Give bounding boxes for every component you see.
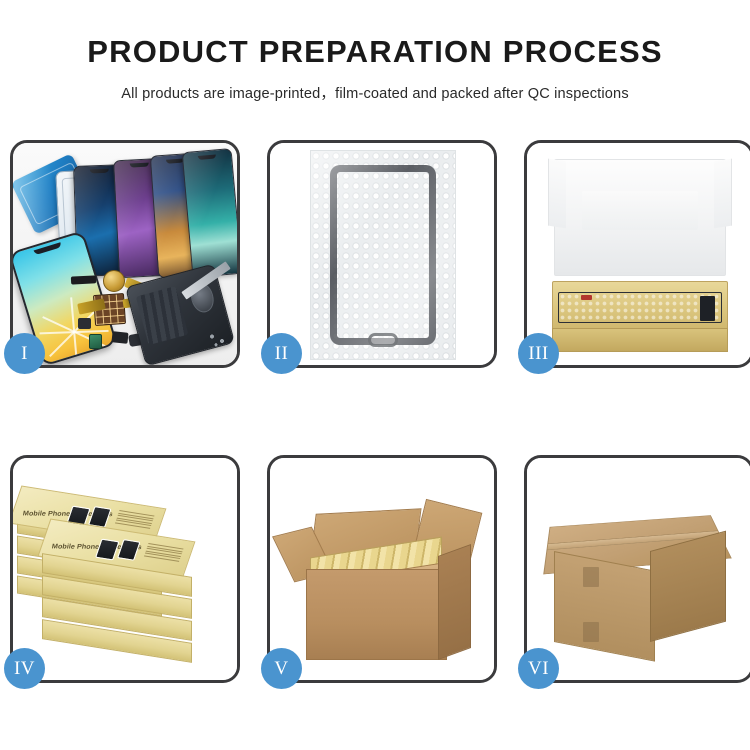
step-3-image [527, 143, 750, 365]
step-badge-6: VI [518, 648, 559, 689]
step-2-image [270, 143, 494, 365]
step-panel-6: VI [524, 455, 750, 683]
step-badge-5: V [261, 648, 302, 689]
film-gloss [311, 151, 454, 360]
carton-handle-notch-bottom [583, 622, 599, 642]
page-subtitle: All products are image-printed，film-coat… [0, 69, 750, 103]
screen-red-mark [581, 295, 592, 299]
spare-part-green-chip [89, 334, 102, 349]
spare-part-screws [208, 332, 228, 348]
box-stack: Mobile Phone Spare Parts Mobile Phone Sp… [13, 458, 237, 680]
step-panel-3: III [524, 140, 750, 368]
sealed-carton-front [554, 551, 655, 661]
step-badge-1: I [4, 333, 45, 374]
step-5-image [270, 458, 494, 680]
step-panel-2: II [267, 140, 497, 368]
phone-teal [182, 148, 237, 278]
step-6-image [527, 458, 750, 680]
carton-handle-notch-top [583, 567, 599, 587]
product-preparation-infographic: PRODUCT PREPARATION PROCESS All products… [0, 0, 750, 750]
spare-part-connector [78, 318, 91, 329]
page-title: PRODUCT PREPARATION PROCESS [0, 0, 750, 69]
step-1-image [13, 143, 237, 365]
box-print-phone-2 [117, 539, 141, 561]
spare-part-black-block [111, 331, 128, 344]
spare-part-black-bar [71, 276, 96, 285]
bubble-film-sheet [310, 150, 455, 361]
box-print-spec-lines [116, 510, 155, 528]
step-panel-1: I [10, 140, 240, 368]
inner-box-lid [554, 159, 726, 276]
step-panel-4: Mobile Phone Spare Parts Mobile Phone Sp… [10, 455, 240, 683]
step-4-image: Mobile Phone Spare Parts Mobile Phone Sp… [13, 458, 237, 680]
step-badge-4: IV [4, 648, 45, 689]
box-print-spec-lines [145, 543, 184, 561]
phone-back-housing [125, 264, 235, 365]
step-badge-3: III [518, 333, 559, 374]
spare-part-coin-motor [103, 270, 125, 292]
carton-body [306, 569, 447, 660]
sealed-carton-side [650, 531, 726, 642]
header: PRODUCT PREPARATION PROCESS All products… [0, 0, 750, 103]
phone-lineup [71, 152, 237, 276]
carton-side-panel [438, 544, 471, 660]
screen-connector-cap [700, 296, 716, 320]
step-badge-2: II [261, 333, 302, 374]
foam-insert [582, 191, 698, 230]
process-steps-grid: I II III [10, 140, 740, 685]
inner-box-front-wall [552, 328, 729, 352]
step-panel-5: V [267, 455, 497, 683]
